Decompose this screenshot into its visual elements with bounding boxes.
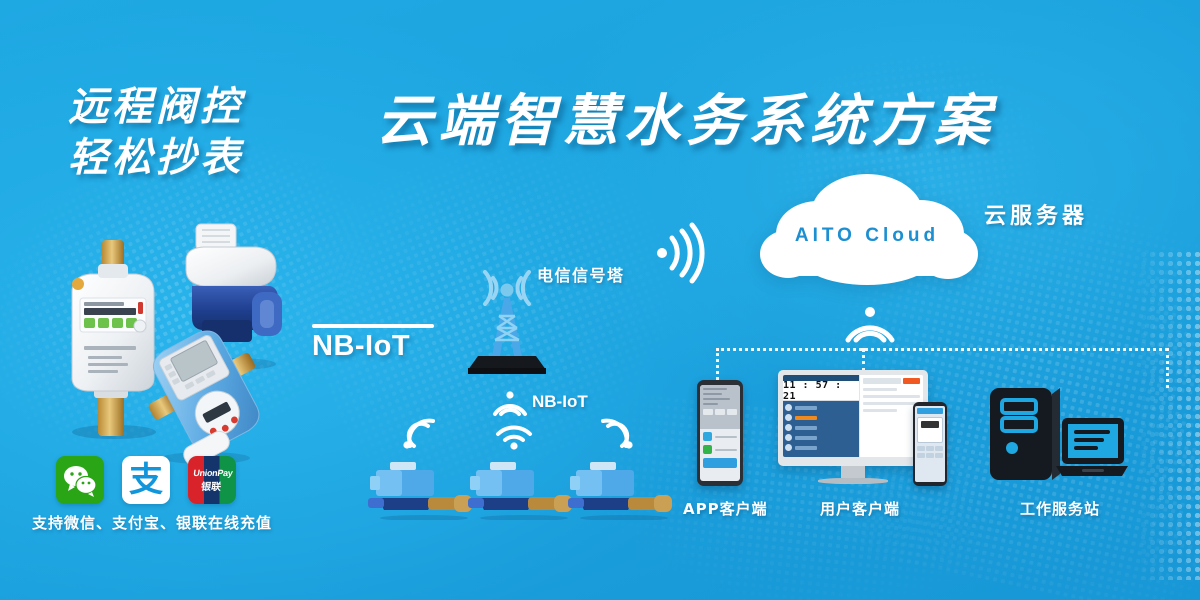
monitor-frame: 11 : 57 : 21: [778, 370, 928, 466]
slogan-line-1: 远程阀控: [68, 82, 244, 133]
signal-wave-to-cloud-icon: [650, 222, 712, 284]
water-meter-icon: [568, 448, 680, 520]
connector-drop-user: [862, 348, 865, 372]
nbiot-secondary-label: NB-IoT: [532, 392, 588, 412]
field-water-meter-3: [568, 448, 680, 520]
cloud-label: AITO Cloud: [752, 168, 982, 290]
field-water-meter-1: [368, 448, 480, 520]
wechat-pay-icon[interactable]: [56, 456, 104, 504]
water-meter-icon: [368, 448, 480, 520]
unionpay-chinese-name: 银联: [200, 478, 222, 493]
cloud-graphic: AITO Cloud: [752, 168, 982, 290]
water-meter-2-signal-icon: [492, 418, 536, 450]
phone-body: [697, 380, 743, 486]
server-tower-and-laptop-icon: [988, 382, 1128, 488]
side-phone-meter-readout: [917, 417, 943, 443]
workstation-graphic: [988, 382, 1128, 488]
device-label-workstation: 工作服务站: [1020, 498, 1100, 519]
wechat-glyph: [60, 460, 100, 500]
device-label-user-client: 用户客户端: [820, 498, 900, 519]
connector-drop-app: [716, 348, 719, 380]
monitor-clock: 11 : 57 : 21: [783, 381, 859, 401]
monitor-stand-base: [818, 478, 888, 484]
monitor-screen: 11 : 57 : 21: [783, 375, 923, 457]
monitor-stand-neck: [841, 466, 865, 478]
phone-screen-bottom-panel: [700, 429, 740, 471]
lcd-meter-body-icon: [140, 320, 270, 465]
alipay-icon[interactable]: 支: [122, 456, 170, 504]
water-meter-1-signal-icon: [398, 418, 440, 450]
side-phone-screen: [915, 406, 945, 482]
field-water-meter-2: [468, 448, 580, 520]
telecom-tower-label: 电信信号塔: [537, 262, 625, 286]
monitor-nav-panel: [783, 401, 859, 457]
unionpay-wordmark: UnionPay: [193, 468, 234, 478]
water-meter-3-signal-icon: [596, 418, 638, 450]
unionpay-icon[interactable]: UnionPay 银联: [188, 456, 236, 504]
product-lcd-prepaid-meter: [140, 320, 270, 465]
phone-screen: [700, 385, 740, 481]
signal-wave-under-cloud-icon: [840, 300, 900, 346]
device-label-app-client: APP客户端: [683, 498, 768, 519]
nbiot-primary-rule: [312, 324, 434, 328]
cloud-server-caption: 云服务器: [984, 198, 1088, 230]
connector-drop-workstation: [1166, 348, 1169, 388]
poster-canvas: 远程阀控 轻松抄表 云端智慧水务系统方案 AITO Cloud 云服务器: [0, 0, 1200, 600]
payment-caption: 支持微信、支付宝、银联在线充值: [32, 512, 272, 533]
user-client-phone: [913, 402, 947, 486]
slogan-block: 远程阀控 轻松抄表: [68, 82, 244, 184]
alipay-glyph: 支: [129, 463, 163, 497]
nbiot-secondary-signal-icon: [490, 388, 530, 418]
app-client-phone: [697, 380, 743, 486]
side-phone-body: [913, 402, 947, 486]
connector-horizontal-bus: [716, 348, 1168, 351]
nbiot-primary-label: NB-IoT: [312, 330, 410, 363]
page-title: 云端智慧水务系统方案: [376, 86, 996, 158]
payment-icon-row: 支 UnionPay 银联: [56, 456, 236, 504]
user-client-monitor: 11 : 57 : 21: [778, 370, 928, 486]
slogan-line-2: 轻松抄表: [68, 133, 244, 184]
water-meter-icon: [468, 448, 580, 520]
phone-screen-top-panel: [700, 385, 740, 429]
